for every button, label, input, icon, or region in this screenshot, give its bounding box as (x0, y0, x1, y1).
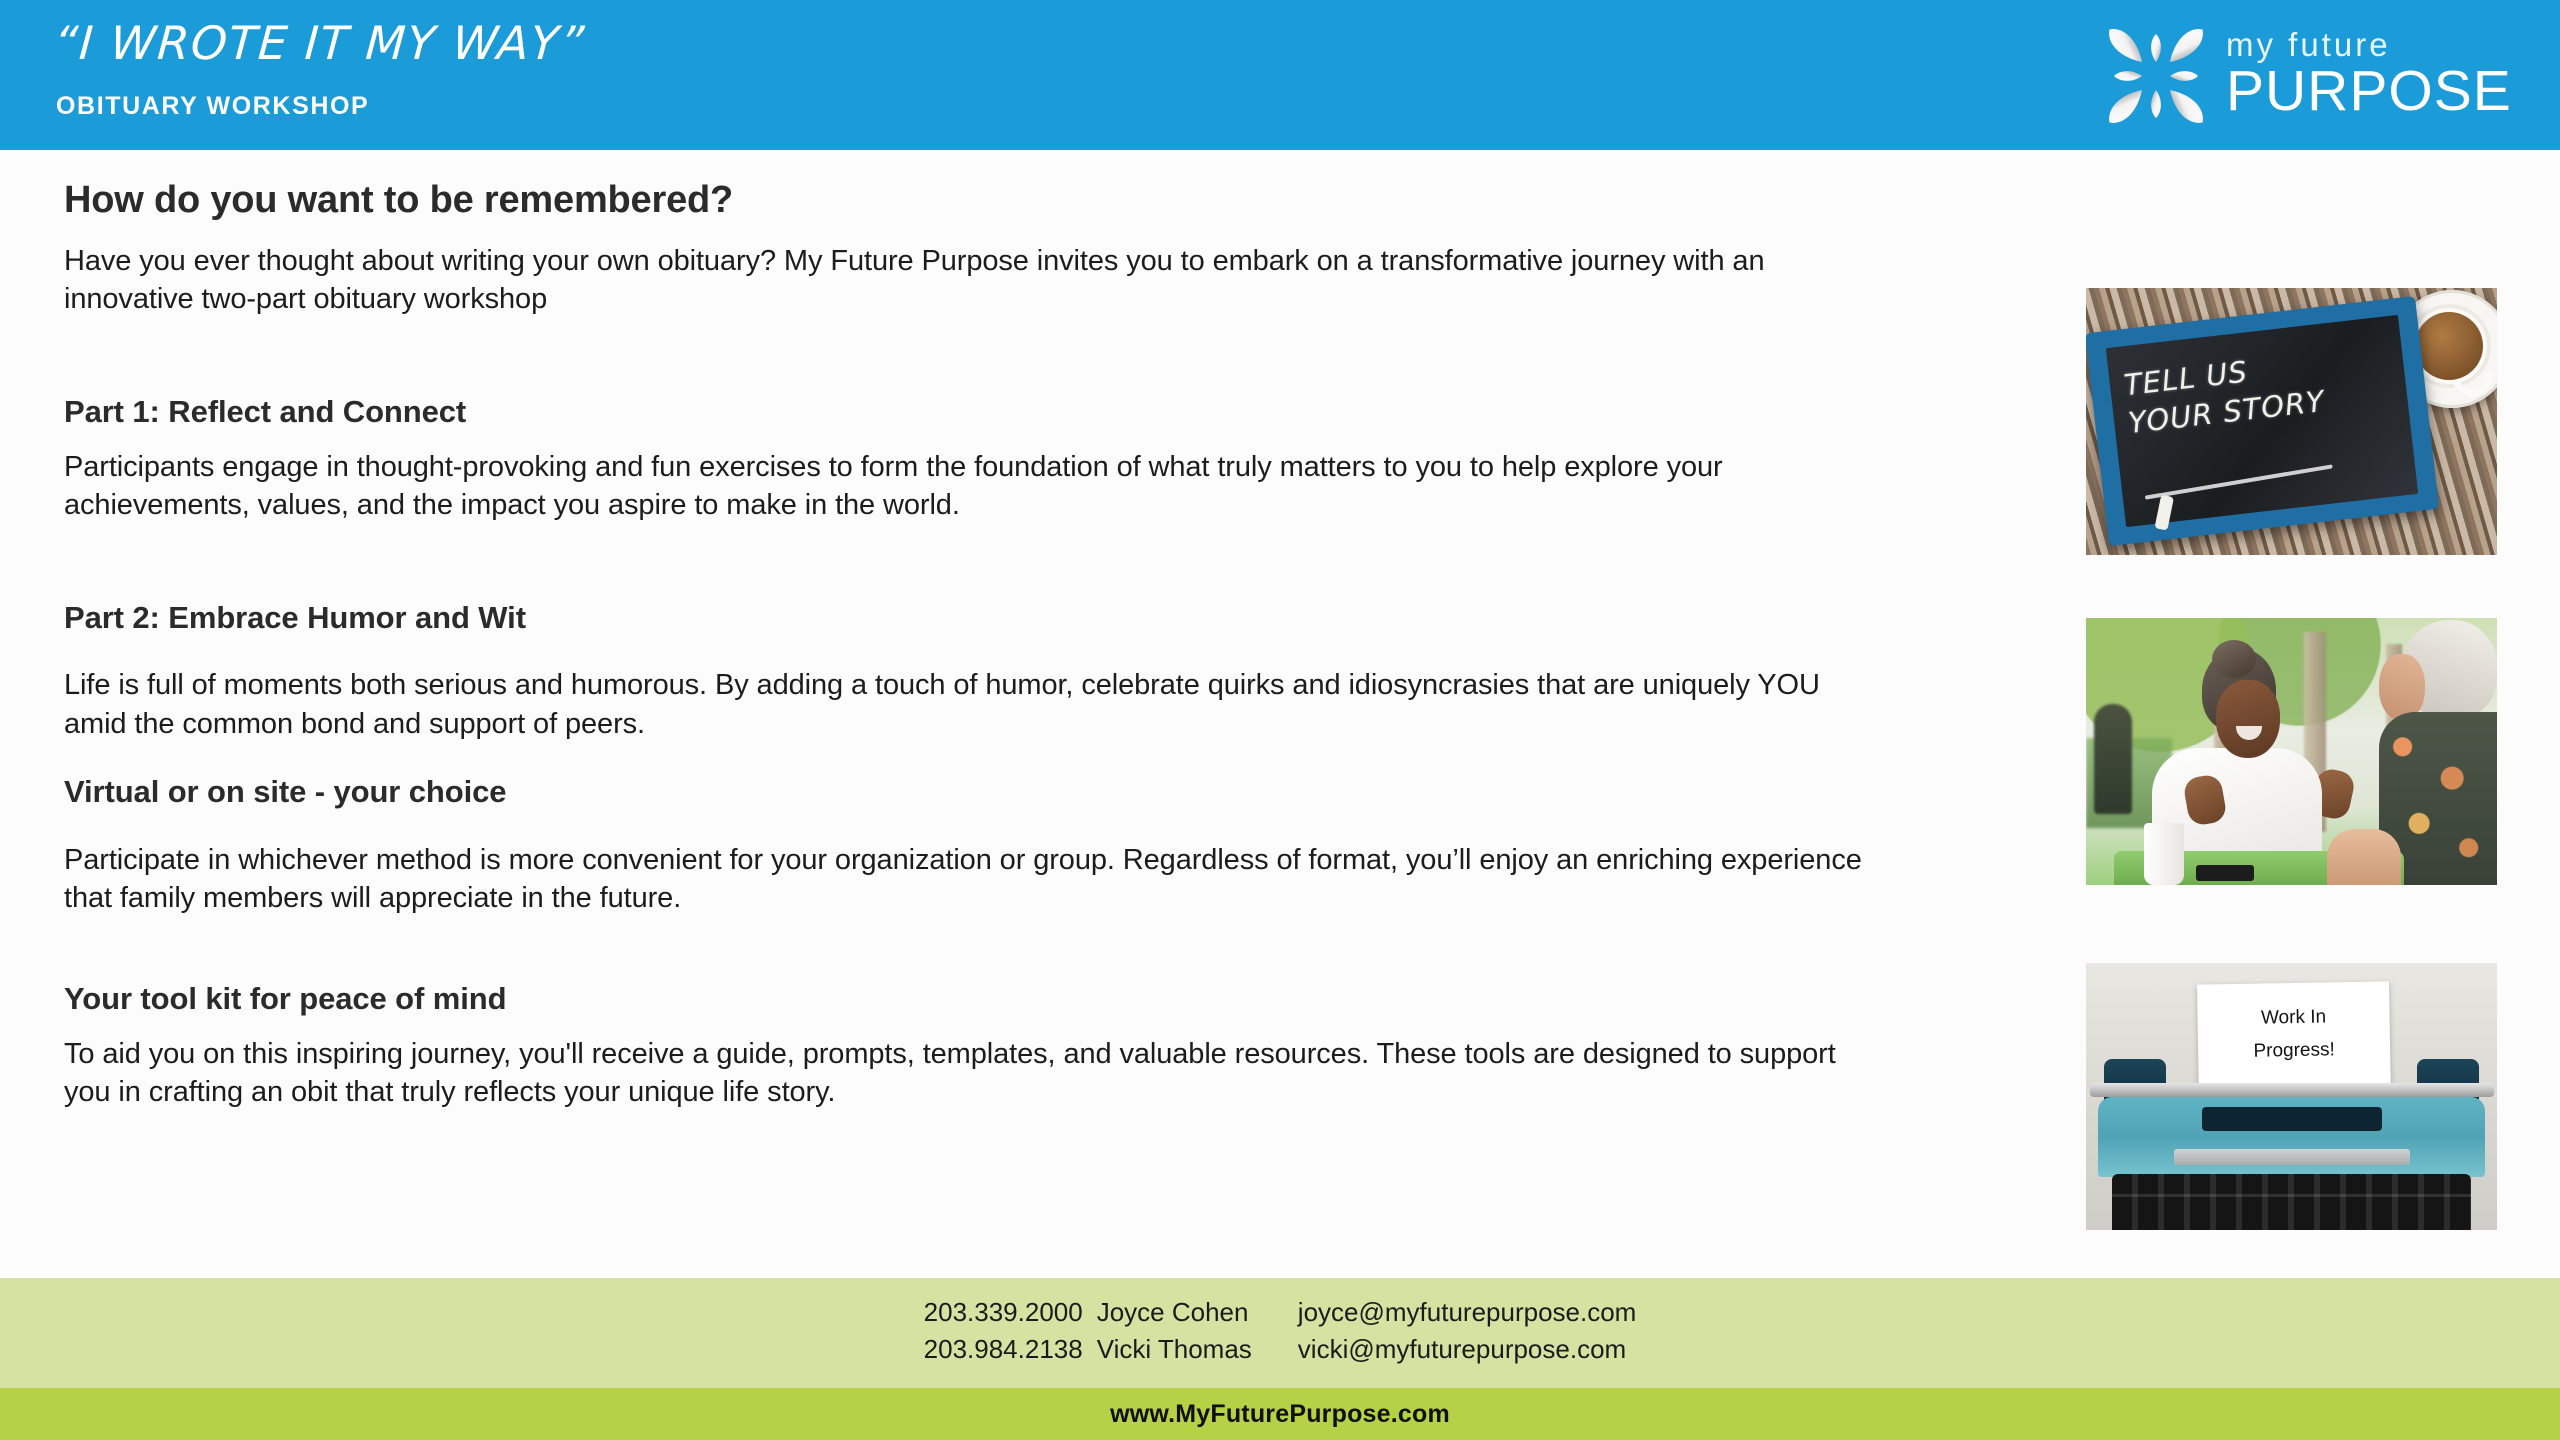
contact-phone: 203.984.2138 (924, 1331, 1097, 1368)
website-link[interactable]: www.MyFuturePurpose.com (1110, 1400, 1450, 1429)
coffee-shape (2415, 312, 2483, 380)
contact-name: Joyce Cohen (1097, 1294, 1298, 1331)
table-row: 203.339.2000 Joyce Cohen joyce@myfuturep… (924, 1294, 1637, 1331)
chalkboard-caption: TELL US YOUR STORY (2122, 336, 2401, 443)
woman-two-face (2379, 654, 2425, 720)
logo-wordmark: my future PURPOSE (2226, 28, 2512, 124)
typewriter-paper-text: Work In Progress! (2197, 999, 2390, 1069)
typewriter-photo: Work In Progress! (2086, 963, 2497, 1230)
page-title: How do you want to be remembered? (64, 178, 1944, 224)
contact-table: 203.339.2000 Joyce Cohen joyce@myfuturep… (924, 1294, 1637, 1368)
header-subtitle: OBITUARY WORKSHOP (56, 92, 369, 121)
typewriter-paper-line-1: Work In (2197, 999, 2390, 1036)
section-body-virtual-or-onsite: Participate in whichever method is more … (64, 841, 1874, 918)
footer-url-band: www.MyFuturePurpose.com (0, 1388, 2560, 1440)
footer-contact-band: 203.339.2000 Joyce Cohen joyce@myfuturep… (0, 1278, 2560, 1388)
contact-email[interactable]: vicki@myfuturepurpose.com (1298, 1331, 1637, 1368)
logo-line-my-future: my future (2226, 28, 2512, 61)
typewriter-body (2098, 1097, 2485, 1177)
flyer-page: “I WROTE IT MY WAY” OBITUARY WORKSHOP (0, 0, 2560, 1440)
section-heading-tool-kit: Your tool kit for peace of mind (64, 980, 1944, 1017)
section-body-tool-kit: To aid you on this inspiring journey, yo… (64, 1035, 1874, 1112)
typewriter-paper-line-2: Progress! (2198, 1033, 2391, 1070)
typewriter-slot (2202, 1107, 2382, 1131)
typewriter-keyboard (2112, 1174, 2471, 1230)
section-heading-part-2: Part 2: Embrace Humor and Wit (64, 599, 1944, 636)
typewriter-roller-bar (2090, 1083, 2494, 1097)
brand-logo: my future PURPOSE (2100, 18, 2520, 134)
chalkboard-frame: TELL US YOUR STORY (2086, 296, 2439, 546)
phone-shape (2196, 865, 2254, 881)
main-content: How do you want to be remembered? Have y… (64, 178, 1944, 1112)
chalkboard-photo: TELL US YOUR STORY (2086, 288, 2497, 555)
logo-line-purpose: PURPOSE (2226, 63, 2512, 120)
contact-phone: 203.339.2000 (924, 1294, 1097, 1331)
section-heading-virtual-or-onsite: Virtual or on site - your choice (64, 773, 1944, 810)
two-women-talking-photo (2086, 618, 2497, 885)
section-heading-part-1: Part 1: Reflect and Connect (64, 393, 1944, 430)
table-row: 203.984.2138 Vicki Thomas vicki@myfuture… (924, 1331, 1637, 1368)
chalk-underline (2145, 464, 2333, 499)
section-body-part-2: Life is full of moments both serious and… (64, 666, 1874, 743)
intro-paragraph: Have you ever thought about writing your… (64, 242, 1874, 319)
background-person-shape (2094, 704, 2132, 814)
chalkboard-surface: TELL US YOUR STORY (2106, 315, 2418, 527)
woman-one-face (2216, 680, 2280, 758)
page-header: “I WROTE IT MY WAY” OBITUARY WORKSHOP (0, 0, 2560, 150)
woman-one-hair-bun (2212, 640, 2256, 678)
woman-two-arm (2327, 829, 2401, 885)
white-cup-shape (2144, 823, 2184, 885)
contact-email[interactable]: joyce@myfuturepurpose.com (1298, 1294, 1637, 1331)
header-title: “I WROTE IT MY WAY” (52, 16, 587, 70)
section-body-part-1: Participants engage in thought-provoking… (64, 448, 1874, 525)
contact-name: Vicki Thomas (1097, 1331, 1298, 1368)
flower-logo-icon (2100, 20, 2212, 132)
typewriter-strip (2174, 1149, 2410, 1165)
